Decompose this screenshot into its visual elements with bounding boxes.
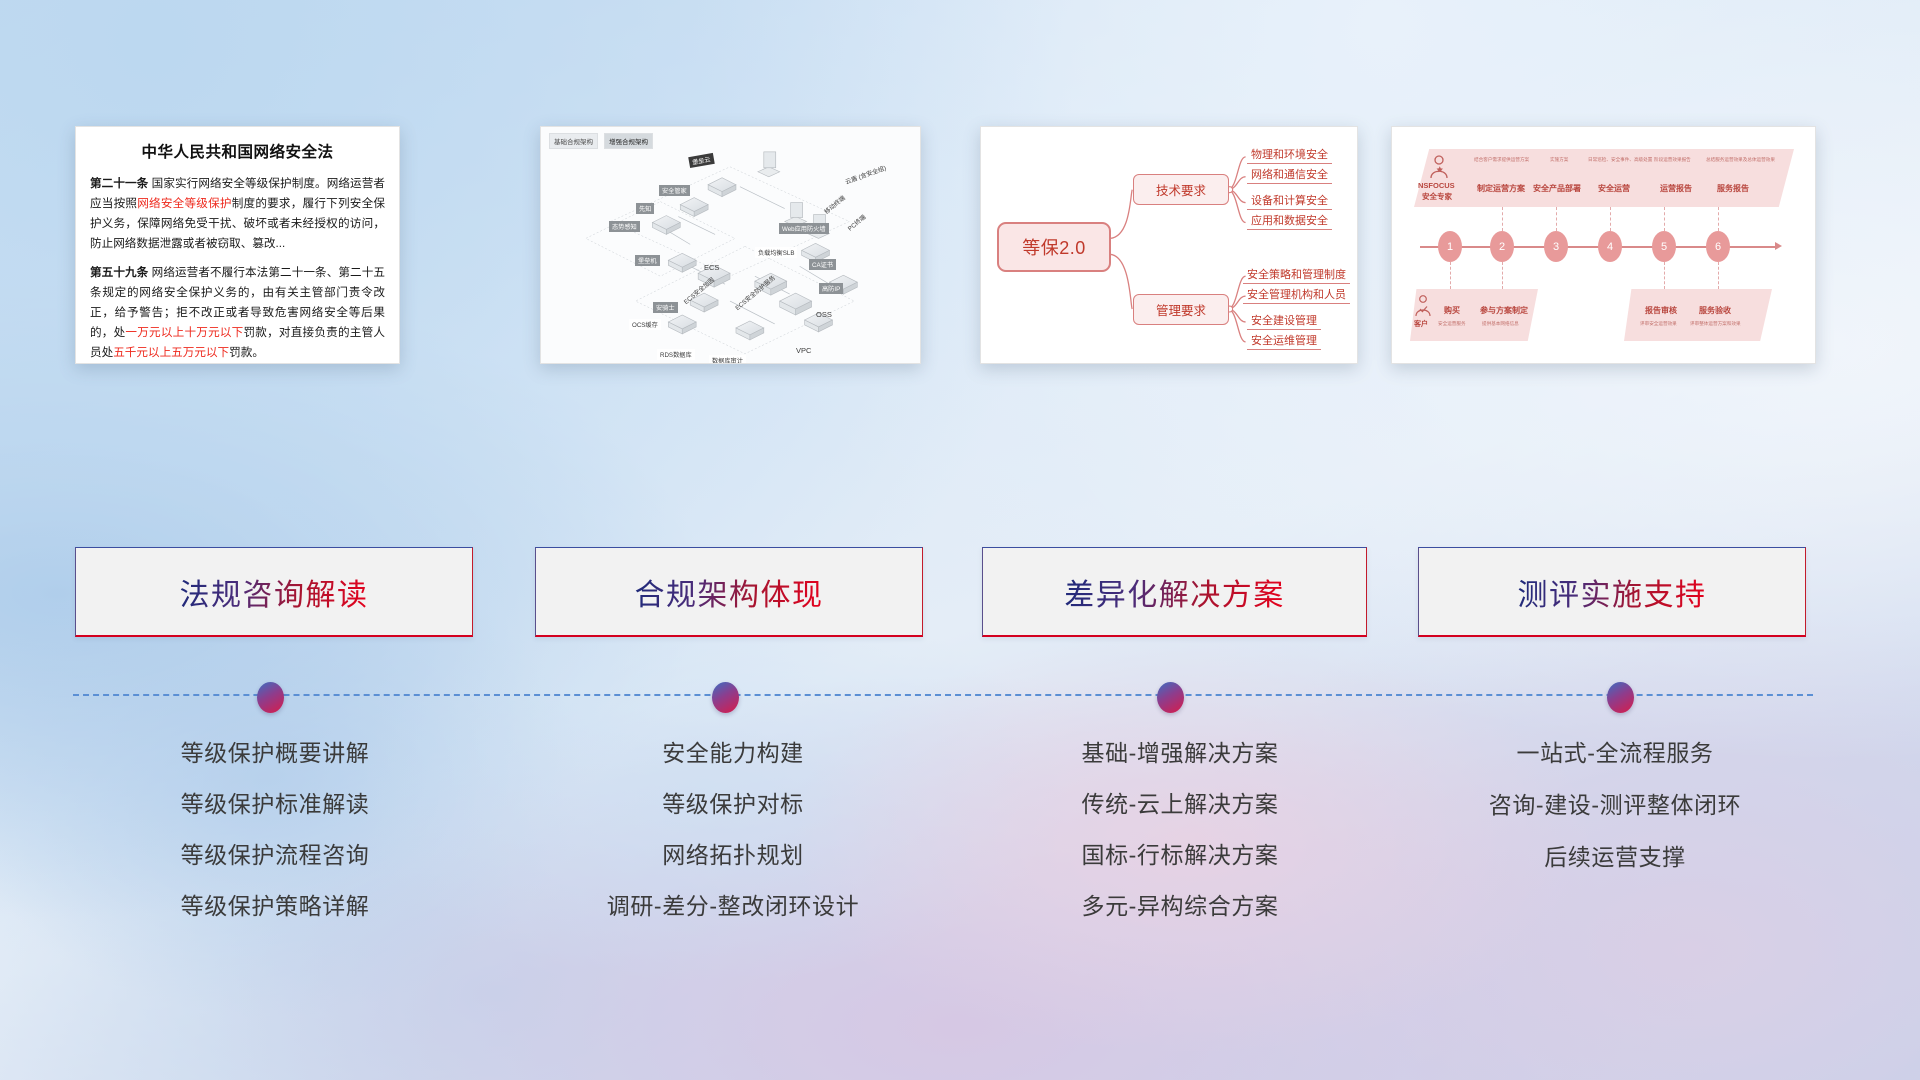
mindmap-root: 等保2.0 bbox=[997, 222, 1111, 272]
arch-label-xianzhi: 先知 bbox=[636, 203, 654, 214]
flow-dash-3-top bbox=[1556, 207, 1557, 231]
vendor-actor-name: NSFOCUS bbox=[1418, 181, 1455, 190]
list-item: 等级保护对标 bbox=[533, 793, 933, 816]
headline-box-compliance-architecture[interactable]: 合规架构体现 bbox=[535, 547, 923, 637]
mindmap-diagram: 等保2.0 技术要求 管理要求 物理和环境安全 网络和通信安全 设备和计算安全 … bbox=[981, 127, 1357, 363]
flow-top-sub-4: 日常巡检、安全事件、高级处置 bbox=[1588, 157, 1652, 163]
tab-enhanced-architecture[interactable]: 增强合规架构 bbox=[604, 133, 653, 149]
architecture-canvas bbox=[541, 127, 920, 364]
list-item: 国标-行标解决方案 bbox=[980, 844, 1380, 867]
arch-label-slb: 负载均衡SLB bbox=[755, 247, 797, 258]
detail-list-differentiated-solution: 基础-增强解决方案 传统-云上解决方案 国标-行标解决方案 多元-异构综合方案 bbox=[980, 742, 1380, 946]
arch-label-web-waf: Web应用防火墙 bbox=[779, 223, 829, 234]
flow-top-sub-3: 实施方案 bbox=[1550, 157, 1568, 163]
law-article-59-label: 第五十九条 bbox=[90, 266, 148, 279]
flow-bottom-title-5: 报告审核 bbox=[1645, 305, 1677, 316]
law-article-59-fine-1: 一万元以上十万元以下 bbox=[125, 326, 243, 339]
timeline-dashed-line bbox=[73, 694, 1813, 696]
mindmap-leaf-construction-mgmt: 安全建设管理 bbox=[1247, 312, 1321, 330]
law-article-21-highlight: 网络安全等级保护 bbox=[137, 197, 231, 210]
timeline-dot-4[interactable] bbox=[1607, 682, 1634, 713]
flow-dash-5-bottom bbox=[1664, 262, 1665, 289]
timeline-dot-3[interactable] bbox=[1157, 682, 1184, 713]
flow-node-4: 4 bbox=[1598, 231, 1622, 262]
mindmap-leaf-ops-mgmt: 安全运维管理 bbox=[1247, 332, 1321, 350]
flow-dash-6-bottom bbox=[1718, 262, 1719, 289]
list-item: 一站式-全流程服务 bbox=[1415, 742, 1815, 765]
architecture-tabs[interactable]: 基础合规架构 增强合规架构 bbox=[549, 133, 653, 149]
list-item: 等级保护标准解读 bbox=[75, 793, 475, 816]
law-article-21-label: 第二十一条 bbox=[90, 177, 148, 190]
card-cybersecurity-law[interactable]: 中华人民共和国网络安全法 第二十一条 国家实行网络安全等级保护制度。网络运营者应… bbox=[75, 126, 400, 364]
list-item: 安全能力构建 bbox=[533, 742, 933, 765]
list-item: 后续运营支撑 bbox=[1415, 846, 1815, 869]
tab-basic-architecture[interactable]: 基础合规架构 bbox=[549, 133, 598, 149]
flow-top-title-2: 制定运营方案 bbox=[1477, 183, 1525, 194]
flow-top-title-6: 服务报告 bbox=[1717, 183, 1749, 194]
list-item: 咨询-建设-测评整体闭环 bbox=[1415, 794, 1815, 817]
detail-lists-row: 等级保护概要讲解 等级保护标准解读 等级保护流程咨询 等级保护策略详解 安全能力… bbox=[0, 742, 1920, 972]
arch-label-bastion-host: 堡垒机 bbox=[635, 255, 660, 266]
timeline-dot-2[interactable] bbox=[712, 682, 739, 713]
arch-label-rds-database: RDS数据库 bbox=[657, 349, 695, 360]
headline-boxes-row: 法规咨询解读 合规架构体现 差异化解决方案 测评实施支持 bbox=[0, 547, 1920, 637]
architecture-diagram: 基础合规架构 增强合规架构 bbox=[541, 127, 920, 363]
service-flow-diagram: NSFOCUS 安全专家 结合客户需求提供运营方案 制定运营方案 实施方案 安全… bbox=[1392, 127, 1815, 363]
mindmap-leaf-network-comm: 网络和通信安全 bbox=[1247, 166, 1332, 184]
headline-label-evaluation-support: 测评实施支持 bbox=[1518, 570, 1707, 614]
flow-bottom-title-2: 参与方案制定 bbox=[1480, 305, 1528, 316]
card-service-flow[interactable]: NSFOCUS 安全专家 结合客户需求提供运营方案 制定运营方案 实施方案 安全… bbox=[1391, 126, 1816, 364]
arch-label-oss: OSS bbox=[813, 309, 835, 320]
arch-label-db-audit: 数据库审计 bbox=[709, 355, 746, 364]
client-icon bbox=[1414, 295, 1432, 317]
detail-list-compliance-architecture: 安全能力构建 等级保护对标 网络拓扑规划 调研-差分-整改闭环设计 bbox=[533, 742, 933, 946]
client-actor-name: 客户 bbox=[1414, 319, 1428, 329]
flow-dash-2-top bbox=[1502, 207, 1503, 231]
vendor-actor-role: 安全专家 bbox=[1422, 191, 1452, 202]
preview-cards-row: 中华人民共和国网络安全法 第二十一条 国家实行网络安全等级保护制度。网络运营者应… bbox=[0, 126, 1920, 364]
law-article-21: 第二十一条 国家实行网络安全等级保护制度。网络运营者应当按照网络安全等级保护制度… bbox=[90, 174, 385, 254]
list-item: 等级保护策略详解 bbox=[75, 895, 475, 918]
mindmap-leaf-device-compute: 设备和计算安全 bbox=[1247, 192, 1332, 210]
flow-node-3: 3 bbox=[1544, 231, 1568, 262]
arch-label-vpc: VPC bbox=[793, 345, 814, 356]
mindmap-leaf-app-data: 应用和数据安全 bbox=[1247, 212, 1332, 230]
headline-label-differentiated-solution: 差异化解决方案 bbox=[1064, 570, 1285, 614]
arch-label-ca-certificate: CA证书 bbox=[809, 259, 836, 270]
flow-bottom-sub-6: 评审整体运营方案和效果 bbox=[1690, 321, 1741, 327]
list-item: 基础-增强解决方案 bbox=[980, 742, 1380, 765]
arch-label-situation-awareness: 态势感知 bbox=[609, 221, 640, 232]
flow-top-sub-2: 结合客户需求提供运营方案 bbox=[1474, 157, 1529, 163]
flow-top-sub-5: 阶段运营效果报告 bbox=[1654, 157, 1691, 163]
card-mindmap-dengbao[interactable]: 等保2.0 技术要求 管理要求 物理和环境安全 网络和通信安全 设备和计算安全 … bbox=[980, 126, 1358, 364]
mindmap-leaf-org-personnel: 安全管理机构和人员 bbox=[1243, 286, 1350, 304]
timeline-track bbox=[0, 682, 1920, 722]
flow-top-title-4: 安全运营 bbox=[1598, 183, 1630, 194]
list-item: 等级保护流程咨询 bbox=[75, 844, 475, 867]
arch-label-anqishi: 安骑士 bbox=[653, 302, 678, 313]
flow-bottom-sub-5: 评审安全运营效果 bbox=[1640, 321, 1677, 327]
flow-dash-6-top bbox=[1718, 207, 1719, 231]
flow-dash-4-top bbox=[1610, 207, 1611, 231]
flow-top-title-3: 安全产品部署 bbox=[1533, 183, 1581, 194]
headline-box-regulation-consulting[interactable]: 法规咨询解读 bbox=[75, 547, 473, 637]
flow-node-6: 6 bbox=[1706, 231, 1730, 262]
law-article-59: 第五十九条 网络运营者不履行本法第二十一条、第二十五条规定的网络安全保护义务的，… bbox=[90, 263, 385, 363]
detail-list-regulation-consulting: 等级保护概要讲解 等级保护标准解读 等级保护流程咨询 等级保护策略详解 bbox=[75, 742, 475, 946]
mindmap-leaf-policy-system: 安全策略和管理制度 bbox=[1243, 266, 1350, 284]
detail-list-evaluation-support: 一站式-全流程服务 咨询-建设-测评整体闭环 后续运营支撑 bbox=[1415, 742, 1815, 898]
flow-bottom-title-6: 服务验收 bbox=[1699, 305, 1731, 316]
law-document: 中华人民共和国网络安全法 第二十一条 国家实行网络安全等级保护制度。网络运营者应… bbox=[76, 127, 399, 364]
flow-axis-arrow bbox=[1775, 242, 1782, 250]
list-item: 多元-异构综合方案 bbox=[980, 895, 1380, 918]
list-item: 调研-差分-整改闭环设计 bbox=[533, 895, 933, 918]
flow-dash-5-top bbox=[1664, 207, 1665, 231]
law-article-59-fine-2: 五千元以上五万元以下 bbox=[113, 346, 229, 359]
list-item: 传统-云上解决方案 bbox=[980, 793, 1380, 816]
expert-icon bbox=[1428, 155, 1450, 179]
headline-label-compliance-architecture: 合规架构体现 bbox=[635, 570, 824, 614]
arch-label-anti-ddos-ip: 高防IP bbox=[819, 283, 843, 294]
flow-node-1: 1 bbox=[1438, 231, 1462, 262]
law-title: 中华人民共和国网络安全法 bbox=[90, 140, 385, 162]
flow-top-sub-6: 总结服务运营效果及总体运营效果 bbox=[1706, 157, 1775, 163]
arch-label-ocs-cache: OCS缓存 bbox=[629, 319, 661, 330]
mindmap-branch-technical: 技术要求 bbox=[1133, 174, 1229, 205]
arch-label-security-steward: 安全管家 bbox=[659, 185, 690, 196]
flow-node-5: 5 bbox=[1652, 231, 1676, 262]
headline-label-regulation-consulting: 法规咨询解读 bbox=[180, 570, 369, 614]
headline-box-differentiated-solution[interactable]: 差异化解决方案 bbox=[982, 547, 1367, 637]
timeline-dot-1[interactable] bbox=[257, 682, 284, 713]
card-compliance-architecture[interactable]: 基础合规架构 增强合规架构 bbox=[540, 126, 921, 364]
flow-bottom-sub-2: 提供基本网络信息 bbox=[1482, 321, 1519, 327]
flow-dash-2-bottom bbox=[1502, 262, 1503, 289]
flow-dash-1-bottom bbox=[1450, 262, 1451, 289]
mindmap-branch-management: 管理要求 bbox=[1133, 294, 1229, 325]
list-item: 等级保护概要讲解 bbox=[75, 742, 475, 765]
mindmap-leaf-physical-env: 物理和环境安全 bbox=[1247, 146, 1332, 164]
list-item: 网络拓扑规划 bbox=[533, 844, 933, 867]
flow-bottom-sub-1: 安全运营服务 bbox=[1438, 321, 1466, 327]
headline-box-evaluation-support[interactable]: 测评实施支持 bbox=[1418, 547, 1806, 637]
flow-top-title-5: 运营报告 bbox=[1660, 183, 1692, 194]
law-article-59-text-c: 罚款。 bbox=[229, 346, 264, 359]
flow-node-2: 2 bbox=[1490, 231, 1514, 262]
flow-bottom-title-1: 购买 bbox=[1444, 305, 1460, 316]
